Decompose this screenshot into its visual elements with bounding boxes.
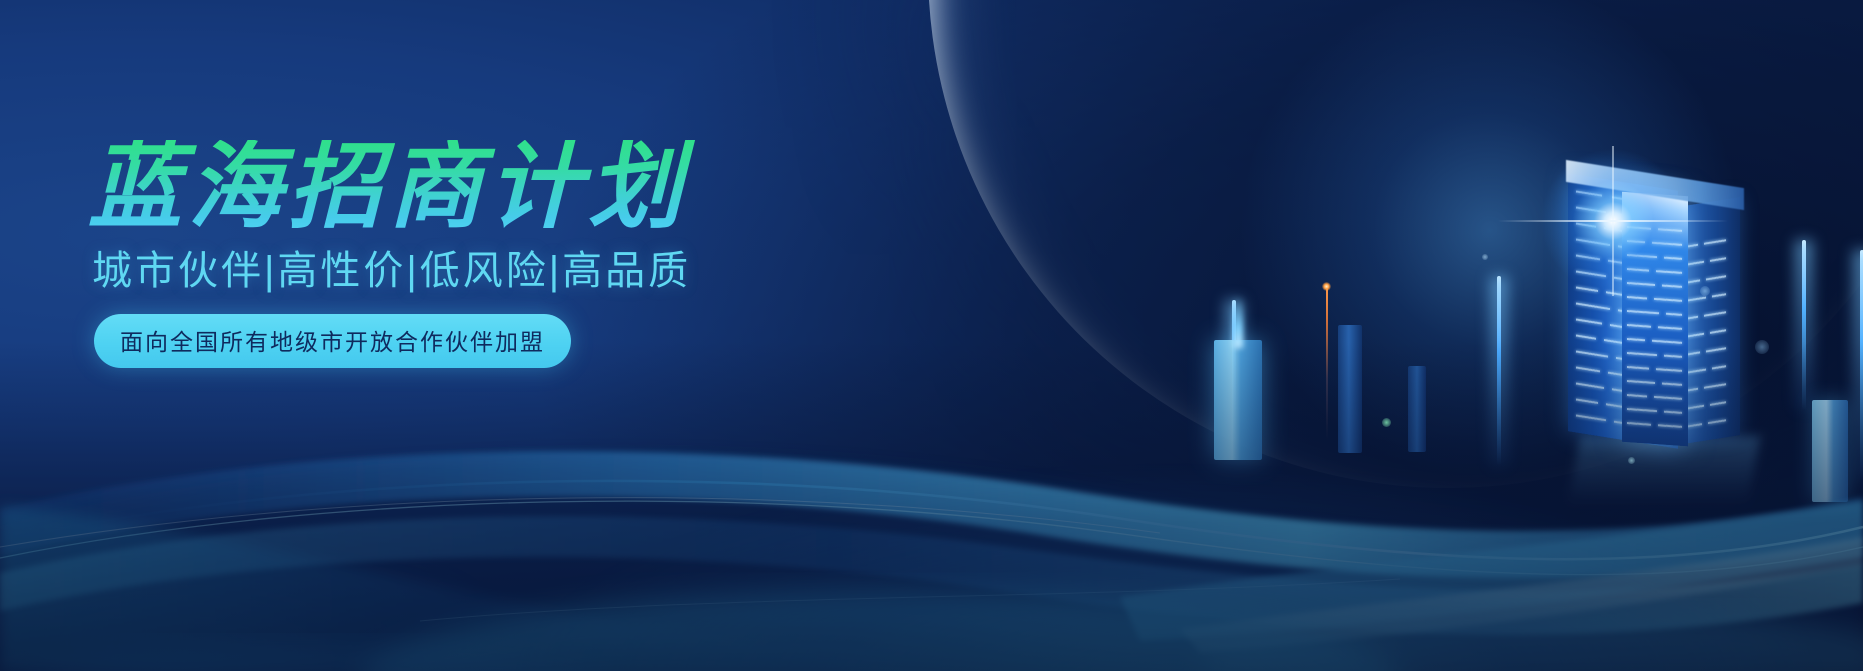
- banner-content: 蓝海招商计划 城市伙伴|高性价|低风险|高品质 面向全国所有地级市开放合作伙伴加…: [88, 140, 848, 368]
- planet-arc: [928, 0, 1863, 488]
- promo-banner: 蓝海招商计划 城市伙伴|高性价|低风险|高品质 面向全国所有地级市开放合作伙伴加…: [0, 0, 1863, 671]
- horizon-glow: [520, 470, 1820, 671]
- page-title: 蓝海招商计划: [88, 140, 848, 234]
- tower-block: [1812, 400, 1848, 502]
- particle-dot: [1628, 457, 1635, 464]
- left-bottom-glow: [0, 520, 530, 671]
- banner-subtitle: 城市伙伴|高性价|低风险|高品质: [92, 248, 848, 294]
- planet-rim-light: [910, 0, 1863, 506]
- status-badge[interactable]: 面向全国所有地级市开放合作伙伴加盟: [94, 314, 571, 368]
